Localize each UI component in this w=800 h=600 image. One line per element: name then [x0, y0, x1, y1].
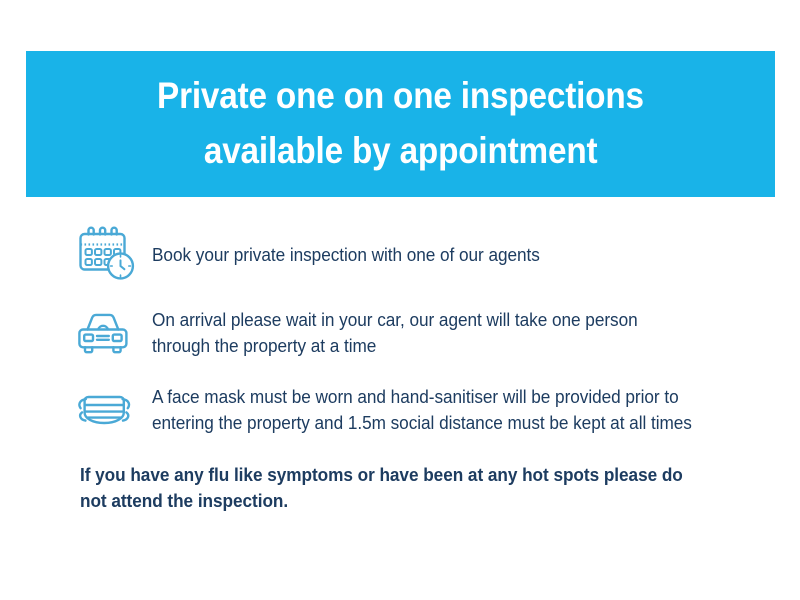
list-item: A face mask must be worn and hand-saniti…: [0, 384, 800, 437]
inspection-notice-poster: Private one on one inspections available…: [0, 0, 800, 600]
list-item-label: Book your private inspection with one of…: [152, 242, 693, 268]
list-item-label: A face mask must be worn and hand-saniti…: [152, 384, 693, 437]
list-item: Book your private inspection with one of…: [0, 225, 800, 281]
list-item-label: On arrival please wait in your car, our …: [152, 307, 693, 360]
list-item-text-cell: Book your private inspection with one of…: [152, 225, 800, 268]
header-banner: Private one on one inspections available…: [26, 51, 775, 197]
list-item-text-cell: A face mask must be worn and hand-saniti…: [152, 384, 800, 437]
calendar-clock-icon: [76, 225, 152, 281]
list-item-text-cell: On arrival please wait in your car, our …: [152, 307, 800, 360]
banner-title-line-1: Private one on one inspections: [157, 69, 644, 124]
footer-warning-note: If you have any flu like symptoms or hav…: [80, 462, 694, 515]
instruction-list: Book your private inspection with one of…: [0, 225, 800, 436]
face-mask-icon: [76, 384, 152, 432]
list-item: On arrival please wait in your car, our …: [0, 307, 800, 360]
car-front-icon: [76, 307, 152, 357]
banner-title-line-2: available by appointment: [204, 124, 598, 179]
